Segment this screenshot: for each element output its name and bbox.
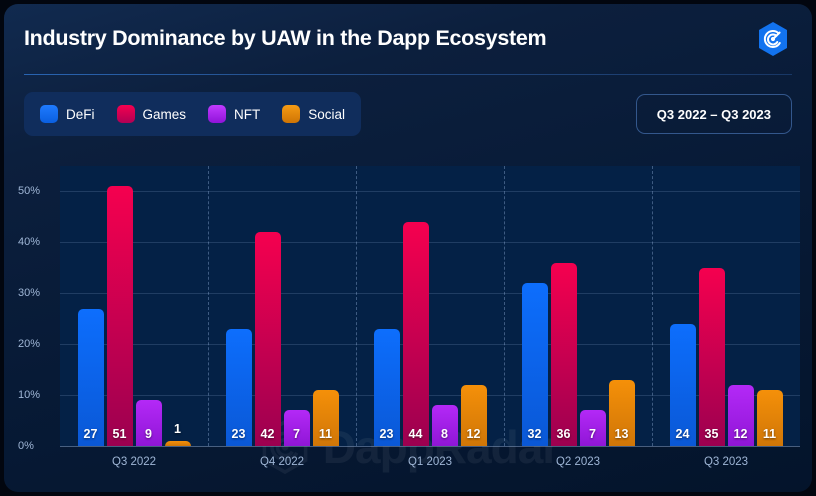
bar-social-q22023[interactable]: 13 bbox=[609, 380, 635, 446]
bar-nft-q32023[interactable]: 12 bbox=[728, 385, 754, 446]
y-axis-tick-label: 40% bbox=[18, 236, 62, 248]
bar-value-label: 1 bbox=[165, 422, 191, 436]
bar-value-label: 32 bbox=[522, 427, 548, 441]
bar-group: 2342711 bbox=[208, 166, 356, 446]
x-axis-label: Q2 2023 bbox=[556, 456, 600, 468]
legend-label-nft: NFT bbox=[234, 107, 260, 122]
x-axis-label: Q3 2022 bbox=[112, 456, 156, 468]
bar-group: 3236713 bbox=[504, 166, 652, 446]
bar-value-label: 23 bbox=[374, 427, 400, 441]
chart-header: Industry Dominance by UAW in the Dapp Ec… bbox=[4, 4, 812, 76]
header-divider bbox=[24, 74, 792, 75]
bar-value-label: 7 bbox=[284, 427, 310, 441]
bar-value-label: 23 bbox=[226, 427, 252, 441]
bar-social-q32023[interactable]: 11 bbox=[757, 390, 783, 446]
bar-value-label: 42 bbox=[255, 427, 281, 441]
bar-defi-q12023[interactable]: 23 bbox=[374, 329, 400, 446]
date-range-selector[interactable]: Q3 2022 – Q3 2023 bbox=[636, 94, 792, 134]
bar-defi-q32022[interactable]: 27 bbox=[78, 309, 104, 446]
legend-label-defi: DeFi bbox=[66, 107, 95, 122]
bar-nft-q22023[interactable]: 7 bbox=[580, 410, 606, 446]
legend-item-games[interactable]: Games bbox=[117, 105, 187, 123]
bar-defi-q32023[interactable]: 24 bbox=[670, 324, 696, 446]
bar-value-label: 24 bbox=[670, 427, 696, 441]
legend-label-games: Games bbox=[143, 107, 187, 122]
bar-value-label: 51 bbox=[107, 427, 133, 441]
y-axis-tick-label: 20% bbox=[18, 338, 62, 350]
dappradar-logo-icon bbox=[754, 20, 792, 58]
bar-value-label: 8 bbox=[432, 427, 458, 441]
date-range-label: Q3 2022 – Q3 2023 bbox=[657, 107, 771, 122]
legend-label-social: Social bbox=[308, 107, 345, 122]
chart-legend: DeFi Games NFT Social bbox=[24, 92, 361, 136]
bar-defi-q22023[interactable]: 32 bbox=[522, 283, 548, 446]
bar-games-q32023[interactable]: 35 bbox=[699, 268, 725, 446]
bar-value-label: 44 bbox=[403, 427, 429, 441]
bar-games-q32022[interactable]: 51 bbox=[107, 186, 133, 446]
bar-games-q12023[interactable]: 44 bbox=[403, 222, 429, 446]
bar-nft-q32022[interactable]: 9 bbox=[136, 400, 162, 446]
legend-swatch-games bbox=[117, 105, 135, 123]
x-axis-label: Q3 2023 bbox=[704, 456, 748, 468]
bar-defi-q42022[interactable]: 23 bbox=[226, 329, 252, 446]
legend-item-social[interactable]: Social bbox=[282, 105, 345, 123]
bar-group: 24351211 bbox=[652, 166, 800, 446]
bar-games-q22023[interactable]: 36 bbox=[551, 263, 577, 446]
chart-card: Industry Dominance by UAW in the Dapp Ec… bbox=[4, 4, 812, 492]
bar-value-label: 9 bbox=[136, 427, 162, 441]
x-axis-label: Q1 2023 bbox=[408, 456, 452, 468]
bar-group: 2344812 bbox=[356, 166, 504, 446]
bar-value-label: 36 bbox=[551, 427, 577, 441]
bar-value-label: 13 bbox=[609, 427, 635, 441]
bar-value-label: 27 bbox=[78, 427, 104, 441]
bar-value-label: 11 bbox=[313, 427, 339, 441]
y-axis-tick-label: 50% bbox=[18, 185, 62, 197]
x-axis-label: Q4 2022 bbox=[260, 456, 304, 468]
bar-games-q42022[interactable]: 42 bbox=[255, 232, 281, 446]
legend-swatch-nft bbox=[208, 105, 226, 123]
chart-plot-area: DappRadar 0%10%20%30%40%50% 275191234271… bbox=[4, 154, 812, 492]
bar-nft-q42022[interactable]: 7 bbox=[284, 410, 310, 446]
y-axis-tick-label: 0% bbox=[18, 440, 62, 452]
axis-baseline bbox=[60, 446, 800, 447]
y-axis-tick-label: 30% bbox=[18, 287, 62, 299]
bar-value-label: 12 bbox=[728, 427, 754, 441]
bar-social-q12023[interactable]: 12 bbox=[461, 385, 487, 446]
bar-value-label: 11 bbox=[757, 427, 783, 441]
legend-item-nft[interactable]: NFT bbox=[208, 105, 260, 123]
bar-group: 275191 bbox=[60, 166, 208, 446]
bar-value-label: 12 bbox=[461, 427, 487, 441]
y-axis-tick-label: 10% bbox=[18, 389, 62, 401]
legend-swatch-defi bbox=[40, 105, 58, 123]
bar-value-label: 35 bbox=[699, 427, 725, 441]
legend-item-defi[interactable]: DeFi bbox=[40, 105, 95, 123]
bar-value-label: 7 bbox=[580, 427, 606, 441]
legend-swatch-social bbox=[282, 105, 300, 123]
bar-nft-q12023[interactable]: 8 bbox=[432, 405, 458, 446]
bar-social-q42022[interactable]: 11 bbox=[313, 390, 339, 446]
page-title: Industry Dominance by UAW in the Dapp Ec… bbox=[24, 26, 546, 51]
